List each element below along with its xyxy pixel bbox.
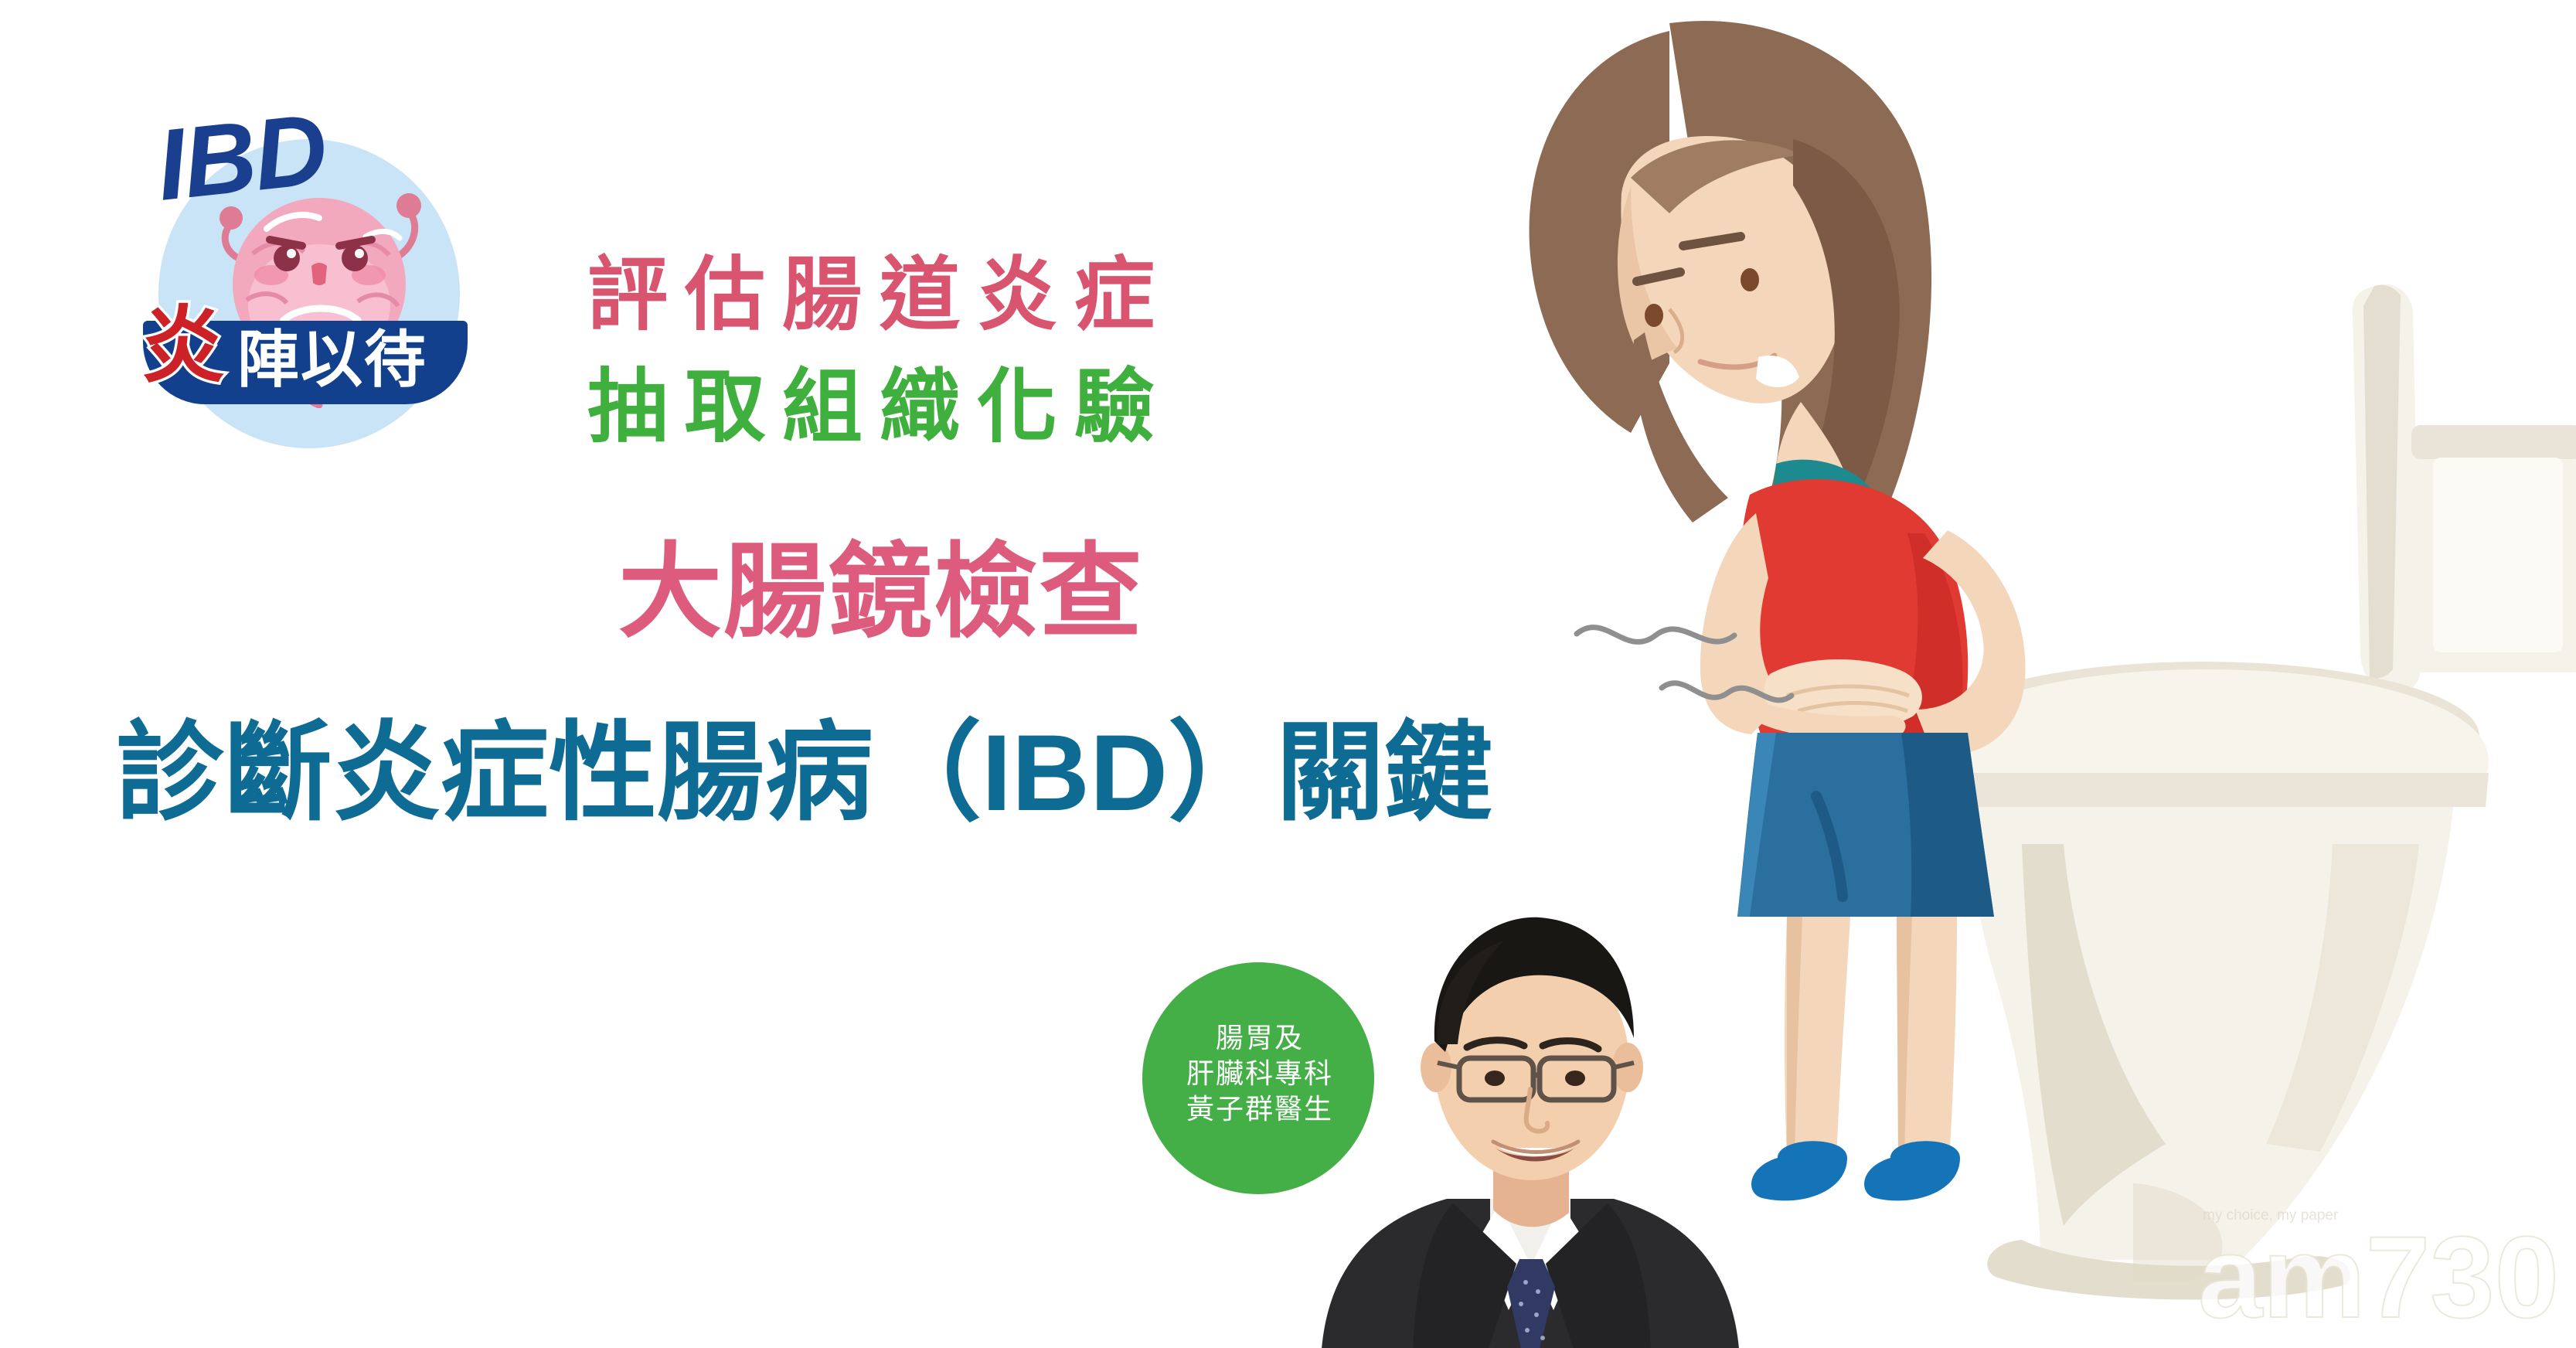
headline-line-1: 大腸鏡檢查 <box>618 541 1144 645</box>
headline-line-2: 診斷炎症性腸病（IBD）關鍵 <box>116 719 1492 827</box>
subheadline-line-2: 抽取組織化驗 <box>587 367 1172 448</box>
banner-canvas: IBD 陣以待 炎 炎 評估腸道炎症 抽取組織化驗 大腸鏡檢查 診斷炎症性腸病（… <box>0 0 2576 1348</box>
doctor-portrait <box>1314 900 1747 1348</box>
subheadline-line-1: 評估腸道炎症 <box>587 255 1172 335</box>
headline-block: 評估腸道炎症 抽取組織化驗 大腸鏡檢查 診斷炎症性腸病（IBD）關鍵 <box>0 0 1623 866</box>
